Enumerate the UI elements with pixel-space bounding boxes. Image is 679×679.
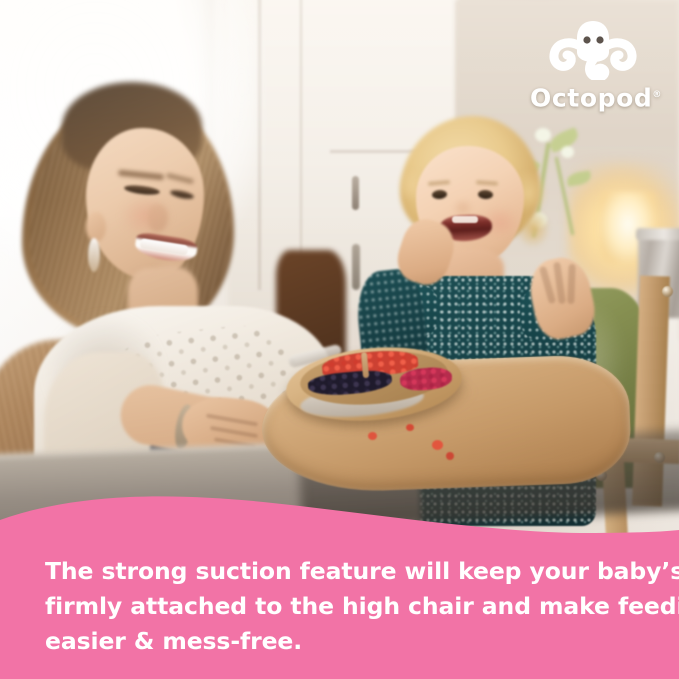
octopus-icon <box>545 14 641 80</box>
food-crumb <box>406 424 414 431</box>
food-crumb <box>446 452 454 460</box>
brand-name: Octopod <box>530 83 652 112</box>
earring <box>88 238 100 272</box>
product-lifestyle-image: Octopod® The strong suction feature will… <box>0 0 679 679</box>
banner-line-2: firmly attached to the high chair and ma… <box>45 589 645 624</box>
cabinet-handle-icon <box>352 176 359 210</box>
cabinet-seam <box>300 0 302 290</box>
cabinet-handle-icon <box>352 244 360 290</box>
tin-lid <box>636 228 679 240</box>
mother-ear <box>86 212 106 242</box>
banner-copy: The strong suction feature will keep you… <box>45 554 645 659</box>
finger <box>567 264 575 304</box>
screw-icon <box>662 286 673 297</box>
baby-teeth <box>452 216 478 223</box>
food-crumb <box>432 440 443 450</box>
brand-wordmark: Octopod® <box>521 80 671 113</box>
registered-mark: ® <box>652 90 662 100</box>
food-crumb <box>368 432 377 440</box>
brand-logo: Octopod® <box>521 14 671 118</box>
banner-line-1: The strong suction feature will keep you… <box>45 554 645 589</box>
banner-line-3: easier & mess-free. <box>45 624 645 659</box>
marketing-banner: The strong suction feature will keep you… <box>0 470 679 679</box>
